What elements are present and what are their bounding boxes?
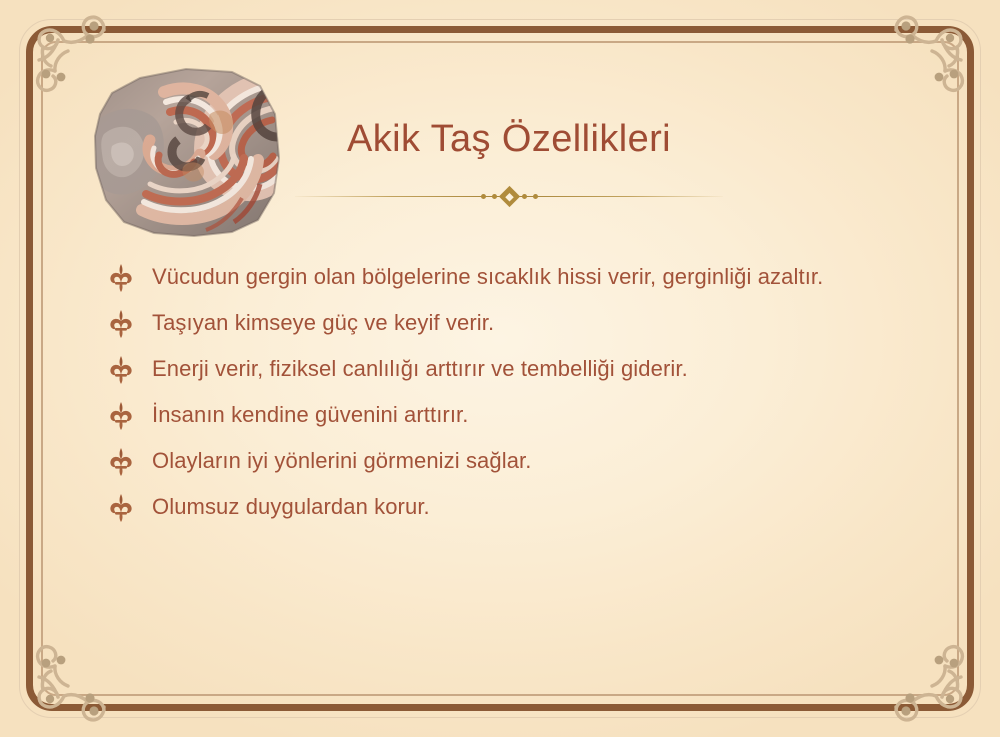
list-item: Olumsuz duygulardan korur. — [108, 492, 898, 521]
properties-list: Vücudun gergin olan bölgelerine sıcaklık… — [108, 262, 898, 538]
list-item: Vücudun gergin olan bölgelerine sıcaklık… — [108, 262, 898, 291]
fleur-de-lis-icon — [108, 263, 134, 292]
list-item-text: Enerji verir, fiziksel canlılığı arttırı… — [152, 354, 688, 383]
diamond-divider-icon — [295, 189, 723, 205]
corner-flourish-top-right-icon — [874, 8, 992, 126]
fleur-de-lis-icon — [108, 309, 134, 338]
fleur-de-lis-icon — [108, 493, 134, 522]
info-card: Akik Taş Özellikleri — [0, 0, 1000, 737]
fleur-de-lis-icon — [108, 447, 134, 476]
page-title: Akik Taş Özellikleri — [295, 118, 723, 162]
corner-flourish-bottom-right-icon — [874, 611, 992, 729]
divider-dot — [492, 194, 497, 199]
divider-dot — [522, 194, 527, 199]
divider-dot — [533, 194, 538, 199]
list-item: Taşıyan kimseye güç ve keyif verir. — [108, 308, 898, 337]
fleur-de-lis-icon — [108, 401, 134, 430]
list-item-text: Olumsuz duygulardan korur. — [152, 492, 430, 521]
list-item: Olayların iyi yönlerini görmenizi sağlar… — [108, 446, 898, 475]
list-item-text: İnsanın kendine güvenini arttırır. — [152, 400, 468, 429]
list-item: İnsanın kendine güvenini arttırır. — [108, 400, 898, 429]
header: Akik Taş Özellikleri — [295, 118, 723, 205]
divider-diamond — [498, 186, 519, 207]
list-item-text: Taşıyan kimseye güç ve keyif verir. — [152, 308, 494, 337]
fleur-de-lis-icon — [108, 355, 134, 384]
list-item-text: Vücudun gergin olan bölgelerine sıcaklık… — [152, 262, 823, 291]
list-item: Enerji verir, fiziksel canlılığı arttırı… — [108, 354, 898, 383]
divider-dot — [481, 194, 486, 199]
agate-stone-photo — [82, 62, 288, 240]
list-item-text: Olayların iyi yönlerini görmenizi sağlar… — [152, 446, 531, 475]
corner-flourish-bottom-left-icon — [8, 611, 126, 729]
